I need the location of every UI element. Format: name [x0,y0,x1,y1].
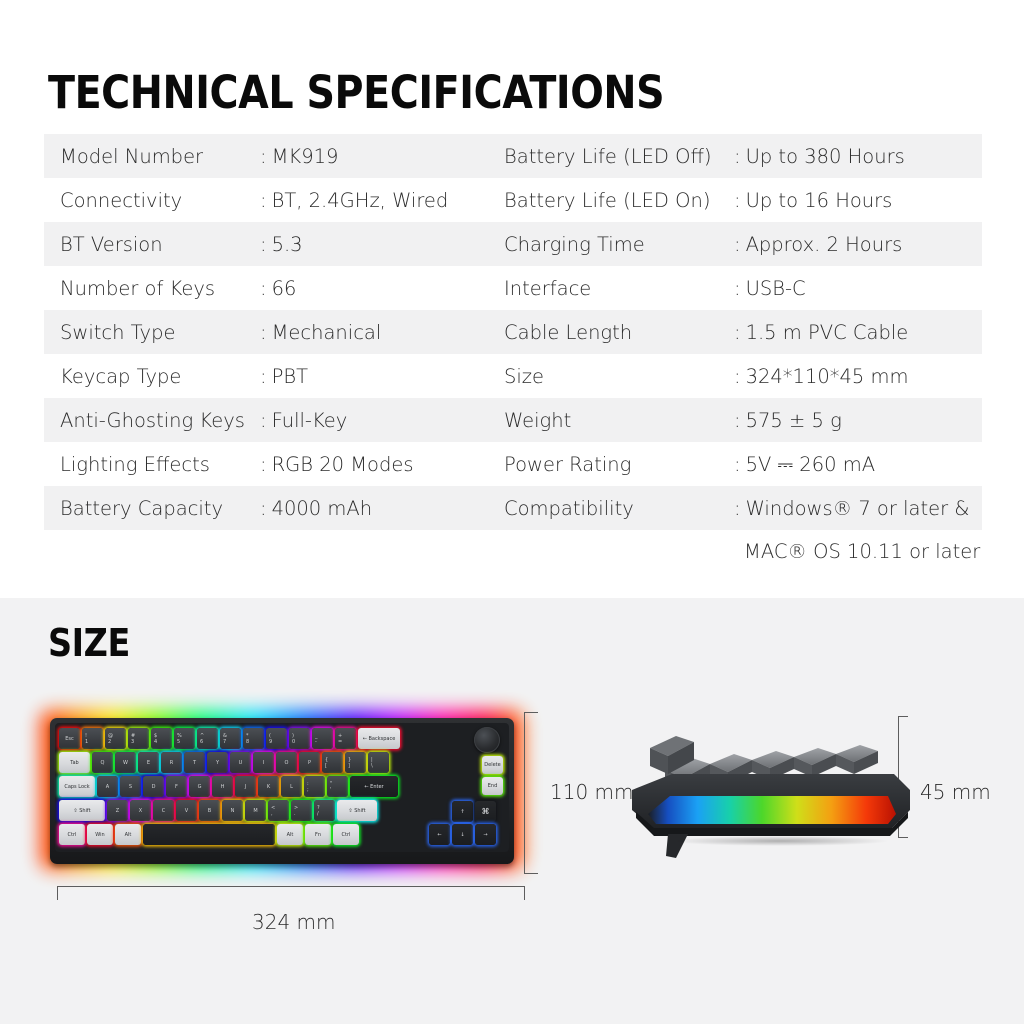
colon-separator: : [734,453,741,476]
key-row-5: CtrlWinAltAltFnCtrl [59,824,359,845]
key-3[interactable]: #3 [128,728,149,749]
key-legend: R [170,760,173,766]
key-9[interactable]: (9 [266,728,287,749]
key-m[interactable]: M [245,800,266,821]
colon-separator: : [260,453,267,476]
spec-label-left: Anti-Ghosting Keys [44,398,260,442]
spec-label-right-text: Charging Time [504,233,645,256]
key-j[interactable]: J [235,776,256,797]
key-[interactable]: >. [291,800,312,821]
spec-value-left: :BT, 2.4GHz, Wired [260,178,504,222]
key-legend: , [271,811,289,817]
technical-specifications-section: TECHNICAL SPECIFICATIONS Model Number:MK… [0,0,1024,598]
spec-label-left-text: Connectivity [60,189,182,212]
spec-value-left-text: PBT [272,365,308,388]
spec-label-left: Lighting Effects [44,442,260,486]
key-esc[interactable]: Esc [59,728,80,749]
spec-label-left-text: Switch Type [60,321,175,344]
spec-row: Lighting Effects:RGB 20 ModesPower Ratin… [44,442,982,486]
colon-separator: : [734,145,741,168]
key-w[interactable]: W [115,752,136,773]
spec-label-left: Number of Keys [44,266,260,310]
spec-label-left: Connectivity [44,178,260,222]
key-legend: H [221,784,225,790]
spec-value-right-text: 1.5 m PVC Cable [746,321,909,344]
key-legend: 2 [108,739,126,745]
spec-value-right: :Up to 380 Hours [734,134,974,178]
key-legend: Caps Lock [64,784,89,790]
spec-value-right-continued: MAC® OS 10.11 or later [734,529,974,573]
key-legend: E [147,760,150,766]
colon-separator: : [734,189,741,212]
key-u[interactable]: U [230,752,251,773]
key-tab[interactable]: Tab [59,752,90,773]
spec-value-right: :Windows® 7 or later & [734,486,974,530]
spec-label-left-text: BT Version [60,233,163,256]
spec-value-left: :66 [260,266,504,310]
width-dimension-bracket [57,886,525,900]
key-legend: ⇧ Shift [73,808,90,814]
spec-label-right-text: Compatibility [504,497,634,520]
key-legend: 9 [269,739,287,745]
keyboard-side-view [610,718,930,868]
key-legend: U [239,760,243,766]
spec-label-left-text: Battery Capacity [60,497,223,520]
spec-value-right-text: 324*110*45 mm [746,365,909,388]
key-alt[interactable]: Alt [277,824,303,845]
colon-separator: : [734,233,741,256]
keyboard-top-view: Esc!1@2#3$4%5^6&7*8(9)0_-+=← Backspace T… [40,706,530,876]
colon-separator: : [260,409,267,432]
key-[interactable]: ← [429,824,450,845]
keyboard-body: Esc!1@2#3$4%5^6&7*8(9)0_-+=← Backspace T… [50,718,514,864]
spec-label-left-text: Model Number [60,145,203,168]
spec-label-right-text: Interface [504,277,591,300]
spec-row: BT Version:5.3Charging Time:Approx. 2 Ho… [44,222,982,266]
key-i[interactable]: I [253,752,274,773]
spec-value-right: :1.5 m PVC Cable [734,310,974,354]
spec-row: Connectivity:BT, 2.4GHz, WiredBattery Li… [44,178,982,222]
key-legend: 5 [177,739,195,745]
key-legend: ↓ [460,832,464,838]
key-y[interactable]: Y [207,752,228,773]
spec-label-right-text: Battery Life (LED Off) [504,145,712,168]
colon-separator: : [260,145,267,168]
spec-value-right-text: Up to 380 Hours [746,145,905,168]
key-delete[interactable]: Delete [482,756,503,774]
key-legend: P [308,760,311,766]
spec-label-left-text: Keycap Type [60,365,181,388]
colon-separator: : [260,189,267,212]
key-[interactable]: ↓ [452,824,473,845]
spec-value-left: :RGB 20 Modes [260,442,504,486]
spec-row: Number of Keys:66Interface:USB-C [44,266,982,310]
key-row-3: Caps LockASDFGHJKL:;"'← Enter [59,776,398,797]
spec-label-left: Battery Capacity [44,486,260,530]
key-space[interactable] [143,824,275,845]
colon-separator: : [734,365,741,388]
key-legend: Delete [484,762,500,768]
spec-value-left-text: Mechanical [272,321,382,344]
keyboard-plate: Esc!1@2#3$4%5^6&7*8(9)0_-+=← Backspace T… [55,723,509,852]
key-o[interactable]: O [276,752,297,773]
colon-separator: : [260,365,267,388]
spec-row-continuation: MAC® OS 10.11 or later [44,530,982,572]
key-legend: G [198,784,202,790]
key-legend: Ctrl [342,832,351,838]
rgb-light-strip [648,796,896,824]
key-8[interactable]: *8 [243,728,264,749]
spec-value-right-text: Approx. 2 Hours [746,233,903,256]
key-legend: 3 [131,739,149,745]
colon-separator: : [260,497,267,520]
key-g[interactable]: G [189,776,210,797]
key-legend: ↑ [460,809,464,815]
spec-label-right-text: Weight [504,409,571,432]
key-[interactable]: }] [345,752,366,773]
spec-value-right: :5V ⎓ 260 mA [734,442,974,486]
key-brand-logo[interactable]: ⌘ [475,801,496,822]
spec-label-left: Switch Type [44,310,260,354]
key-end[interactable]: End [482,777,503,795]
key-backspace[interactable]: ← Backspace [358,728,400,749]
specifications-table: Model Number:MK919Battery Life (LED Off)… [44,134,982,572]
spec-value-left-text: 5.3 [272,233,303,256]
key-legend: 1 [85,739,103,745]
colon-separator: : [260,321,267,344]
key-legend: O [285,760,289,766]
key-f[interactable]: F [166,776,187,797]
depth-dimension-label: 45 mm [920,780,991,804]
key-l[interactable]: L [281,776,302,797]
key-k[interactable]: K [258,776,279,797]
spec-row: Model Number:MK919Battery Life (LED Off)… [44,134,982,178]
key-legend: ' [330,787,348,793]
key-shift[interactable]: ⇧ Shift [59,800,105,821]
spec-value-left-text: 66 [272,277,297,300]
key-[interactable]: → [475,824,496,845]
spec-value-left: :MK919 [260,134,504,178]
width-dimension-label: 324 mm [252,910,336,934]
key-c[interactable]: C [153,800,174,821]
colon-separator: : [260,233,267,256]
spec-label-right-text: Power Rating [504,453,631,476]
spec-value-left: :Full-Key [260,398,504,442]
key-n[interactable]: N [222,800,243,821]
key-[interactable]: += [335,728,356,749]
key-1[interactable]: !1 [82,728,103,749]
spec-label-right: Battery Life (LED On) [504,178,734,222]
key-legend: ← Enter [364,784,383,790]
size-title: SIZE [48,622,130,664]
key-a[interactable]: A [97,776,118,797]
key-legend: K [267,784,270,790]
key-legend: → [483,832,487,838]
key-legend: X [139,808,142,814]
spec-row: Keycap Type:PBTSize:324*110*45 mm [44,354,982,398]
key-legend: 8 [246,739,264,745]
spec-label-left: Keycap Type [44,354,260,398]
key-4[interactable]: $4 [151,728,172,749]
spec-value-left-text: Full-Key [272,409,348,432]
keyboard-shadow [670,836,890,846]
page-title: TECHNICAL SPECIFICATIONS [48,68,664,118]
key-legend: / [317,811,335,817]
side-key-column: DeleteEnd [482,756,503,795]
spec-value-left-text: RGB 20 Modes [272,453,414,476]
spec-value-right-text: 575 ± 5 g [746,409,842,432]
key-legend: ← Backspace [363,736,396,742]
spec-label-right-text: Size [504,365,544,388]
spec-label-left: Model Number [44,134,260,178]
spec-value-left-text: MK919 [272,145,339,168]
spec-value-right: :Up to 16 Hours [734,178,974,222]
spec-row: Anti-Ghosting Keys:Full-KeyWeight:575 ± … [44,398,982,442]
key-legend: \ [371,763,389,769]
key-h[interactable]: H [212,776,233,797]
key-legend: Alt [125,832,132,838]
key-legend: B [208,808,211,814]
key-legend: N [231,808,235,814]
spec-value-right-text: Up to 16 Hours [746,189,893,212]
spec-value-right-text: USB-C [746,277,806,300]
key-legend: ⇧ Shift [348,808,365,814]
spec-value-left: :5.3 [260,222,504,266]
colon-separator: : [734,497,741,520]
key-0[interactable]: )0 [289,728,310,749]
spec-row: Switch Type:MechanicalCable Length:1.5 m… [44,310,982,354]
spec-value-right: :Approx. 2 Hours [734,222,974,266]
key-ctrl[interactable]: Ctrl [59,824,85,845]
key-enter[interactable]: ← Enter [350,776,398,797]
key-t[interactable]: T [184,752,205,773]
key-[interactable]: "' [327,776,348,797]
key-legend: Y [216,760,219,766]
spec-label-right-text: Battery Life (LED On) [504,189,710,212]
spec-value-left-text: BT, 2.4GHz, Wired [272,189,449,212]
key-legend: 6 [200,739,218,745]
key-legend: V [185,808,188,814]
spec-label-left-text: Anti-Ghosting Keys [60,409,245,432]
colon-separator: : [734,321,741,344]
spec-value-left: :PBT [260,354,504,398]
key-[interactable]: <, [268,800,289,821]
spec-label-left-text: Number of Keys [60,277,215,300]
key-d[interactable]: D [143,776,164,797]
key-z[interactable]: Z [107,800,128,821]
key-row-2: TabQWERTYUIOP{[}]|\ [59,752,389,773]
key-legend: J [245,784,246,790]
key-q[interactable]: Q [92,752,113,773]
spec-label-right: Power Rating [504,442,734,486]
spec-label-right: Battery Life (LED Off) [504,134,734,178]
key-[interactable]: :; [304,776,325,797]
key-5[interactable]: %5 [174,728,195,749]
key-e[interactable]: E [138,752,159,773]
key-legend: D [152,784,156,790]
key-p[interactable]: P [299,752,320,773]
spec-label-right-text: Cable Length [504,321,632,344]
key-legend: ← [437,832,441,838]
spec-label-left: BT Version [44,222,260,266]
spec-label-left-text: Lighting Effects [60,453,210,476]
key-alt[interactable]: Alt [115,824,141,845]
spec-value-right-text: Windows® 7 or later & [746,497,970,520]
key-legend: T [193,760,196,766]
spec-label-right: Cable Length [504,310,734,354]
key-shift[interactable]: ⇧ Shift [337,800,377,821]
key-[interactable]: _- [312,728,333,749]
spec-label-right: Compatibility [504,486,734,530]
key-legend: W [123,760,128,766]
spec-value-left: :Mechanical [260,310,504,354]
spec-row: Battery Capacity:4000 mAhCompatibility:W… [44,486,982,530]
spec-value-left: :4000 mAh [260,486,504,530]
spec-value-right: :USB-C [734,266,974,310]
key-row-4: ⇧ ShiftZXCVBNM<,>.?/⇧ Shift [59,800,377,821]
key-[interactable]: ↑ [452,801,473,822]
key-row-1: Esc!1@2#3$4%5^6&7*8(9)0_-+=← Backspace [59,728,400,749]
spec-value-right: :575 ± 5 g [734,398,974,442]
spec-value-left-text: 4000 mAh [272,497,373,520]
arrow-key-cluster: ↑⌘←↓→ [429,801,503,845]
size-section: SIZE Esc!1@2#3$4%5^6&7*8(9)0_-+=← Backsp… [0,598,1024,1024]
key-legend: M [253,808,257,814]
spec-label-right: Size [504,354,734,398]
key-fn[interactable]: Fn [305,824,331,845]
spec-label-right: Weight [504,398,734,442]
page-root: TECHNICAL SPECIFICATIONS Model Number:MK… [0,0,1024,1024]
key-6[interactable]: ^6 [197,728,218,749]
key-legend: End [488,783,498,789]
key-legend: C [162,808,166,814]
key-legend: L [290,784,293,790]
key-legend: Ctrl [68,832,77,838]
spec-value-right-text: 5V ⎓ 260 mA [746,453,875,476]
spec-label-right: Charging Time [504,222,734,266]
key-legend: Win [95,832,104,838]
key-legend: - [315,739,333,745]
spec-label-right: Interface [504,266,734,310]
key-s[interactable]: S [120,776,141,797]
key-legend: F [175,784,178,790]
key-[interactable]: ?/ [314,800,335,821]
colon-separator: : [260,277,267,300]
spec-value-right: :324*110*45 mm [734,354,974,398]
key-legend: . [294,811,312,817]
key-2[interactable]: @2 [105,728,126,749]
key-legend: S [129,784,132,790]
key-b[interactable]: B [199,800,220,821]
key-legend: Esc [65,736,74,742]
key-legend: I [263,760,264,766]
key-caps-lock[interactable]: Caps Lock [59,776,95,797]
height-dimension-bracket [524,712,538,874]
key-v[interactable]: V [176,800,197,821]
key-7[interactable]: &7 [220,728,241,749]
key-legend: Z [116,808,119,814]
key-legend: [ [325,763,343,769]
key-legend: = [338,739,356,745]
colon-separator: : [734,277,741,300]
key-legend: Fn [315,832,321,838]
rotary-knob[interactable] [474,727,500,753]
key-legend: 0 [292,739,310,745]
key-legend: 4 [154,739,172,745]
key-legend: A [106,784,109,790]
colon-separator: : [734,409,741,432]
key-legend: Q [101,760,105,766]
key-[interactable]: {[ [322,752,343,773]
key-legend: Alt [287,832,294,838]
key-legend: 7 [223,739,241,745]
key-[interactable]: |\ [368,752,389,773]
key-legend: Tab [70,760,78,766]
key-legend: ; [307,787,325,793]
key-legend: ] [348,763,366,769]
key-r[interactable]: R [161,752,182,773]
key-ctrl[interactable]: Ctrl [333,824,359,845]
key-win[interactable]: Win [87,824,113,845]
key-x[interactable]: X [130,800,151,821]
